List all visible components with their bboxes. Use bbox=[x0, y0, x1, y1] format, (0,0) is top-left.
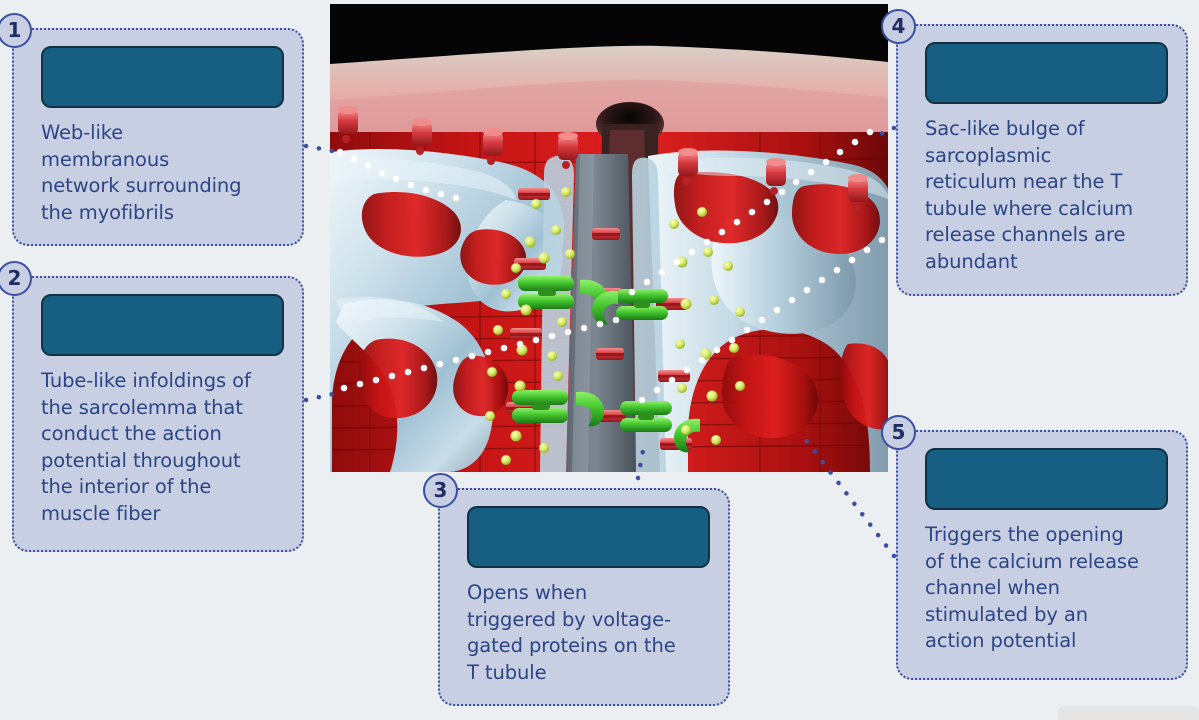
callout-badge-1: 1 bbox=[0, 13, 32, 48]
callout-card-4[interactable]: 4 Sac-like bulge of sarcoplasmic reticul… bbox=[896, 24, 1188, 296]
muscle-fiber-illustration bbox=[330, 4, 888, 472]
callout-header-4[interactable] bbox=[925, 42, 1168, 104]
callout-card-2[interactable]: 2 Tube-like infoldings of the sarcolemma… bbox=[12, 276, 304, 552]
callout-badge-2: 2 bbox=[0, 261, 32, 296]
callout-header-3[interactable] bbox=[467, 506, 710, 568]
callout-text-1: Web-like membranous network surrounding … bbox=[41, 120, 288, 226]
callout-text-2: Tube-like infoldings of the sarcolemma t… bbox=[41, 368, 288, 527]
callout-card-5[interactable]: 5 Triggers the opening of the calcium re… bbox=[896, 430, 1188, 680]
corner-panel bbox=[1058, 706, 1199, 720]
callout-badge-4: 4 bbox=[881, 9, 916, 44]
callout-header-5[interactable] bbox=[925, 448, 1168, 510]
callout-card-1[interactable]: 1 Web-like membranous network surroundin… bbox=[12, 28, 304, 246]
callout-badge-3: 3 bbox=[423, 473, 458, 508]
callout-card-3[interactable]: 3 Opens when triggered by voltage- gated… bbox=[438, 488, 730, 706]
callout-text-3: Opens when triggered by voltage- gated p… bbox=[467, 580, 714, 686]
muscle-fiber-artwork bbox=[330, 4, 888, 472]
callout-text-5: Triggers the opening of the calcium rele… bbox=[925, 522, 1172, 655]
callout-badge-5: 5 bbox=[881, 415, 916, 450]
callout-header-2[interactable] bbox=[41, 294, 284, 356]
callout-header-1[interactable] bbox=[41, 46, 284, 108]
callout-text-4: Sac-like bulge of sarcoplasmic reticulum… bbox=[925, 116, 1172, 275]
diagram-stage: 1 Web-like membranous network surroundin… bbox=[0, 0, 1199, 720]
